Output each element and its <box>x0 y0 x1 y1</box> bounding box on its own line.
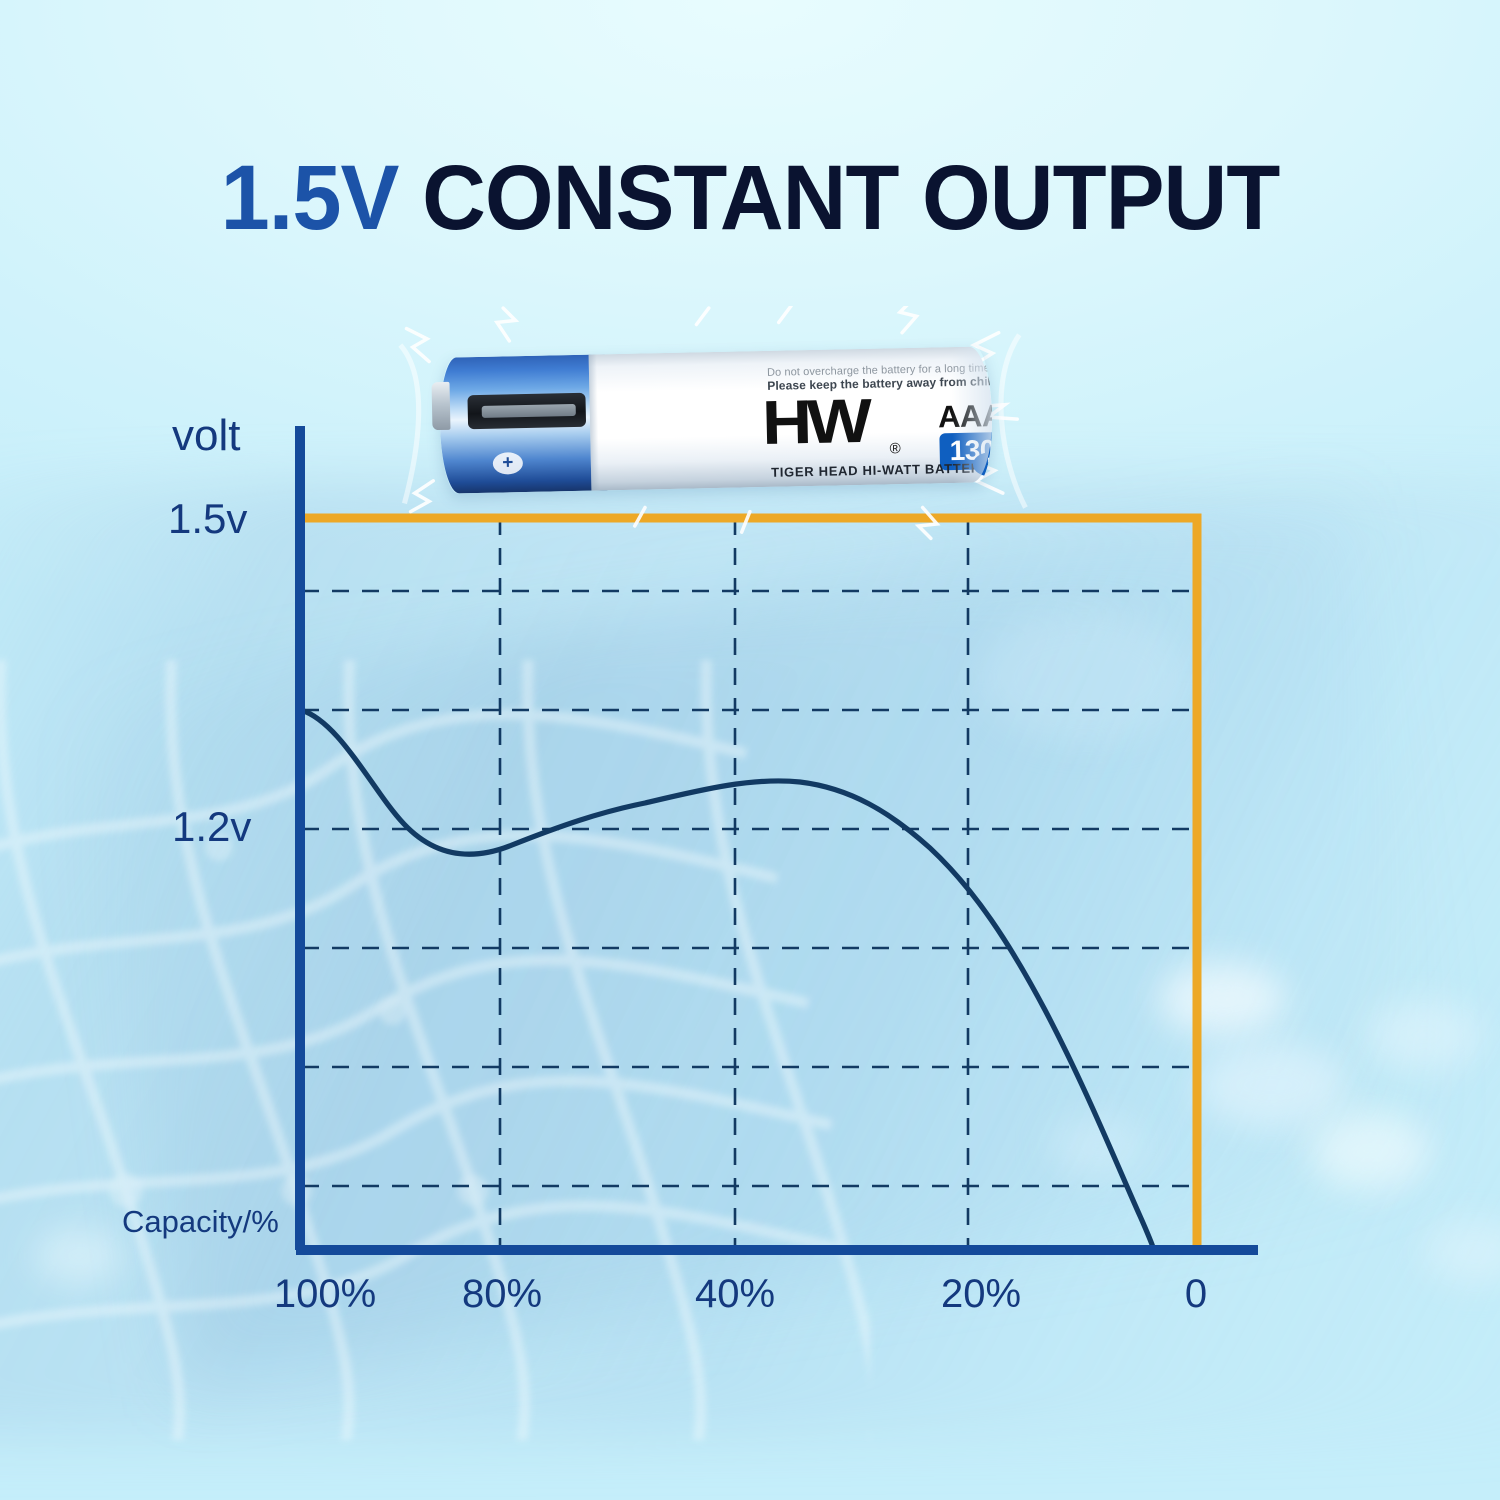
battery-metal-tip <box>431 382 450 430</box>
battery-polarity-plus-label: + <box>493 452 523 475</box>
discharge-curve-chart: volt 1.5v 1.2v Capacity/% 100% 80% 40% 2… <box>0 0 1500 1500</box>
battery-label-front: Do not overcharge the battery for a long… <box>589 346 994 490</box>
horizontal-gridlines <box>302 591 1198 1186</box>
x-tick-100: 100% <box>274 1272 376 1317</box>
x-tick-40: 40% <box>695 1272 775 1317</box>
constant-output-line <box>300 518 1197 1250</box>
y-tick-1-5v: 1.5v <box>168 495 247 543</box>
x-axis-title: Capacity/% <box>122 1204 279 1240</box>
vertical-gridlines <box>500 518 968 1248</box>
discharge-curve-line <box>301 710 1154 1250</box>
battery-body: + Do not overcharge the battery for a lo… <box>439 346 994 494</box>
battery-negative-terminal-slot <box>467 393 586 429</box>
battery-negative-end: + <box>439 354 608 493</box>
y-axis-title: volt <box>172 411 240 461</box>
x-tick-20: 20% <box>941 1272 1021 1317</box>
battery-brand-logo: HW <box>761 391 867 455</box>
y-tick-1-2v: 1.2v <box>172 803 251 851</box>
x-tick-80: 80% <box>462 1272 542 1317</box>
battery-product-image: + Do not overcharge the battery for a lo… <box>432 338 1002 508</box>
x-tick-0: 0 <box>1185 1272 1207 1317</box>
battery-registered-mark: ® <box>889 440 900 457</box>
